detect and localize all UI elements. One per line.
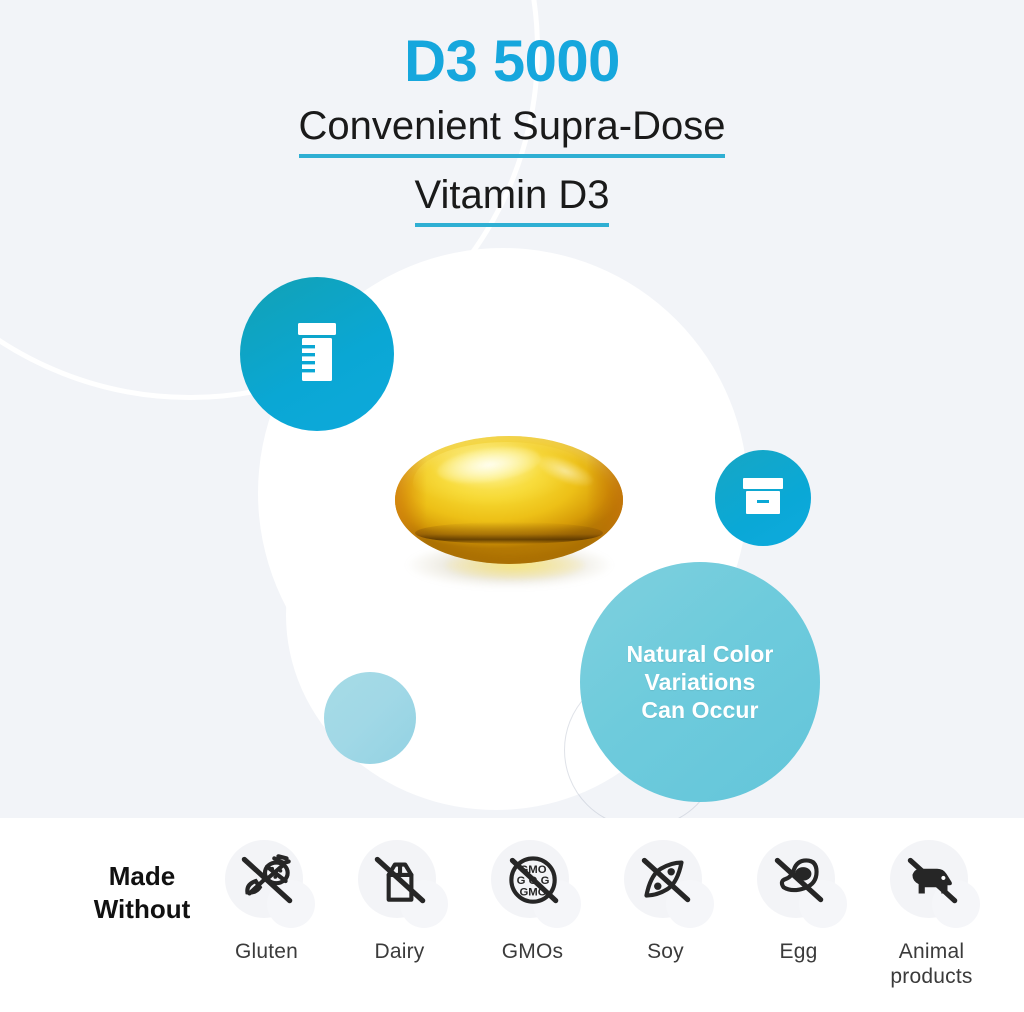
note-line-3: Can Occur xyxy=(641,697,758,723)
softgel-capsule-image xyxy=(385,430,630,600)
box-badge xyxy=(715,450,811,546)
infographic-page: Natural Color Variations Can Occur xyxy=(0,0,1024,1012)
made-without-item-egg: Egg xyxy=(732,838,865,990)
capsule-seam xyxy=(415,522,603,544)
made-without-label: Egg xyxy=(780,940,818,965)
made-without-item-gluten: Gluten xyxy=(200,838,333,990)
no-soy-icon xyxy=(632,846,698,912)
pill-bottle-icon xyxy=(290,321,344,388)
icon-blobs xyxy=(217,838,317,938)
subtitle-line-1-wrap: Convenient Supra-Dose xyxy=(0,103,1024,158)
subtitle-line-1: Convenient Supra-Dose xyxy=(299,103,726,158)
icon-blobs xyxy=(350,838,450,938)
note-line-1: Natural Color xyxy=(627,641,774,667)
made-without-item-soy: Soy xyxy=(599,838,732,990)
made-without-label: Animal products xyxy=(865,940,998,990)
made-without-line-2: Without xyxy=(94,894,191,924)
made-without-band: Made Without xyxy=(0,818,1024,1012)
accent-dot-circle xyxy=(324,672,416,764)
made-without-label: Soy xyxy=(647,940,684,965)
icon-blobs: GMO G O G GMO xyxy=(483,838,583,938)
made-without-item-animal-products: Animal products xyxy=(865,838,998,990)
pill-bottle-badge xyxy=(240,277,394,431)
box-icon xyxy=(741,476,785,521)
made-without-icon-row: Gluten Dairy xyxy=(200,838,1024,990)
no-dairy-icon xyxy=(366,846,432,912)
made-without-label: GMOs xyxy=(502,940,563,965)
made-without-label: Gluten xyxy=(235,940,298,965)
headings-block: D3 5000 Convenient Supra-Dose Vitamin D3 xyxy=(0,0,1024,227)
made-without-item-gmos: GMO G O G GMO GMOs xyxy=(466,838,599,990)
subtitle-line-2-wrap: Vitamin D3 xyxy=(0,172,1024,227)
no-gluten-icon xyxy=(233,846,299,912)
hero-panel: Natural Color Variations Can Occur xyxy=(0,0,1024,818)
made-without-heading: Made Without xyxy=(74,860,210,927)
note-line-2: Variations xyxy=(645,669,756,695)
no-animal-products-icon xyxy=(898,846,964,912)
no-egg-icon xyxy=(765,846,831,912)
icon-blobs xyxy=(882,838,982,938)
made-without-label: Dairy xyxy=(374,940,424,965)
subtitle-line-2: Vitamin D3 xyxy=(415,172,610,227)
made-without-item-dairy: Dairy xyxy=(333,838,466,990)
natural-color-note-text: Natural Color Variations Can Occur xyxy=(627,640,774,724)
icon-blobs xyxy=(749,838,849,938)
natural-color-note-bubble: Natural Color Variations Can Occur xyxy=(580,562,820,802)
page-title: D3 5000 xyxy=(0,32,1024,93)
made-without-line-1: Made xyxy=(109,861,175,891)
no-gmo-icon: GMO G O G GMO xyxy=(499,846,565,912)
icon-blobs xyxy=(616,838,716,938)
